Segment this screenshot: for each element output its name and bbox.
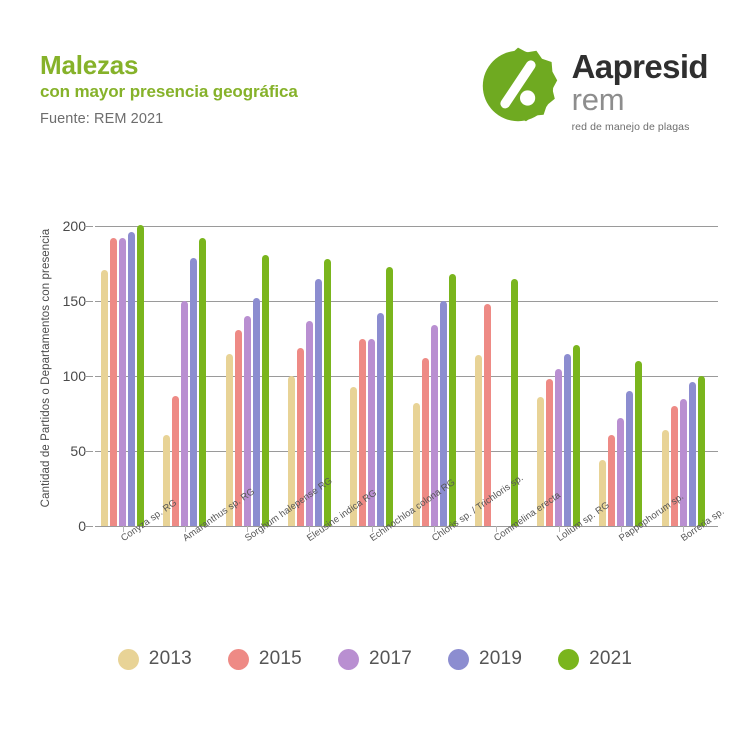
- page-title: Malezas: [40, 52, 460, 79]
- bar-2021: [698, 376, 705, 526]
- bar-2017: [181, 301, 188, 526]
- bar-chart: Cantidad de Partidos o Departamentos con…: [0, 196, 750, 616]
- y-axis-title: Cantidad de Partidos o Departamentos con…: [40, 218, 52, 518]
- legend-item-2015[interactable]: 2015: [228, 648, 302, 670]
- plot-area: 050100150200 Conyza sp. RGAmaranthus sp.…: [95, 226, 718, 526]
- bar-2021: [635, 361, 642, 526]
- y-tick-mark-100: [84, 376, 93, 377]
- bar-2019: [689, 382, 696, 526]
- bar-group: [537, 226, 580, 526]
- header: Malezas con mayor presencia geográfica F…: [40, 52, 460, 127]
- bar-2017: [680, 399, 687, 527]
- bar-2019: [626, 391, 633, 526]
- bar-2021: [262, 255, 269, 527]
- bar-2015: [608, 435, 615, 527]
- gridline-0: 0: [95, 526, 718, 527]
- bar-group: [226, 226, 269, 526]
- logo-tagline: red de manejo de plagas: [572, 121, 708, 133]
- bar-2021: [199, 238, 206, 526]
- bar-group: [350, 226, 393, 526]
- bar-group: [599, 226, 642, 526]
- legend-label-2017: 2017: [369, 648, 412, 670]
- bar-group: [163, 226, 206, 526]
- bar-2021: [386, 267, 393, 527]
- bar-2019: [377, 313, 384, 526]
- page-subtitle: con mayor presencia geográfica: [40, 82, 460, 102]
- bar-2017: [617, 418, 624, 526]
- logo-text: Aapresid rem red de manejo de plagas: [572, 44, 708, 133]
- legend-item-2017[interactable]: 2017: [338, 648, 412, 670]
- bar-2021: [573, 345, 580, 527]
- y-tick-label-100: 100: [63, 368, 86, 384]
- legend-swatch-2013: [118, 649, 139, 670]
- bar-2017: [119, 238, 126, 526]
- bar-2015: [110, 238, 117, 526]
- legend-swatch-2021: [558, 649, 579, 670]
- legend: 20132015201720192021: [0, 648, 750, 670]
- y-tick-label-150: 150: [63, 293, 86, 309]
- y-tick-mark-0: [84, 526, 93, 527]
- bar-2013: [101, 270, 108, 527]
- y-tick-label-200: 200: [63, 218, 86, 234]
- y-tick-mark-150: [84, 301, 93, 302]
- legend-label-2015: 2015: [259, 648, 302, 670]
- y-tick-mark-200: [84, 226, 93, 227]
- bars-layer: [95, 226, 718, 526]
- aapresid-badge-icon: [478, 46, 558, 126]
- legend-label-2013: 2013: [149, 648, 192, 670]
- aapresid-logo: Aapresid rem red de manejo de plagas: [478, 44, 708, 133]
- bar-group: [101, 226, 144, 526]
- legend-label-2021: 2021: [589, 648, 632, 670]
- source-text: Fuente: REM 2021: [40, 111, 460, 127]
- logo-word-rem: rem: [572, 84, 708, 117]
- chart-page: Malezas con mayor presencia geográfica F…: [0, 0, 750, 750]
- bar-2019: [190, 258, 197, 527]
- legend-swatch-2015: [228, 649, 249, 670]
- bar-2019: [564, 354, 571, 527]
- legend-item-2019[interactable]: 2019: [448, 648, 522, 670]
- legend-swatch-2017: [338, 649, 359, 670]
- bar-group: [662, 226, 705, 526]
- legend-swatch-2019: [448, 649, 469, 670]
- logo-word-aapresid: Aapresid: [572, 50, 708, 83]
- legend-item-2021[interactable]: 2021: [558, 648, 632, 670]
- bar-2019: [128, 232, 135, 526]
- legend-item-2013[interactable]: 2013: [118, 648, 192, 670]
- legend-label-2019: 2019: [479, 648, 522, 670]
- y-tick-mark-50: [84, 451, 93, 452]
- bar-2021: [137, 225, 144, 527]
